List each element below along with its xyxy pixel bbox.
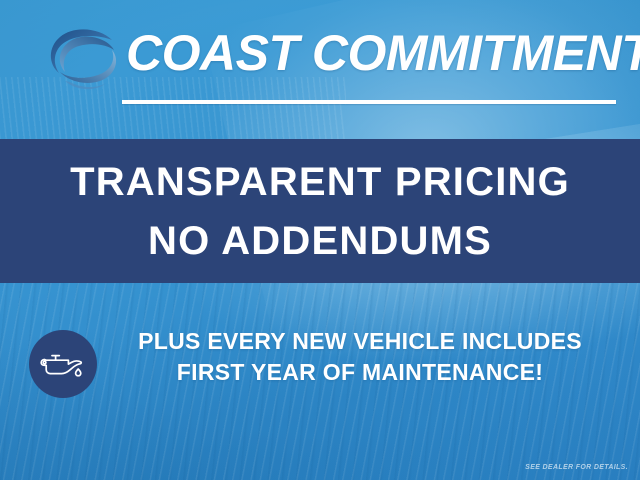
promo-line-2: FIRST YEAR OF MAINTENANCE! bbox=[110, 357, 610, 388]
coast-commitment-banner: COAST COMMITMENT TRANSPARENT PRICING NO … bbox=[0, 0, 640, 480]
page-title: COAST COMMITMENT bbox=[126, 22, 626, 84]
banner-header: COAST COMMITMENT bbox=[0, 0, 640, 139]
transparent-pricing-line: TRANSPARENT PRICING bbox=[70, 162, 570, 202]
disclaimer-text: SEE DEALER FOR DETAILS. bbox=[525, 464, 628, 471]
maintenance-promo: PLUS EVERY NEW VEHICLE INCLUDES FIRST YE… bbox=[0, 322, 640, 404]
pricing-callout-band: TRANSPARENT PRICING NO ADDENDUMS bbox=[0, 139, 640, 283]
promo-text-block: PLUS EVERY NEW VEHICLE INCLUDES FIRST YE… bbox=[110, 326, 610, 388]
coast-wave-logo-icon bbox=[34, 20, 130, 102]
no-addendums-line: NO ADDENDUMS bbox=[148, 221, 492, 261]
header-divider bbox=[122, 100, 616, 104]
promo-line-1: PLUS EVERY NEW VEHICLE INCLUDES bbox=[110, 326, 610, 357]
oil-can-icon bbox=[29, 330, 97, 398]
